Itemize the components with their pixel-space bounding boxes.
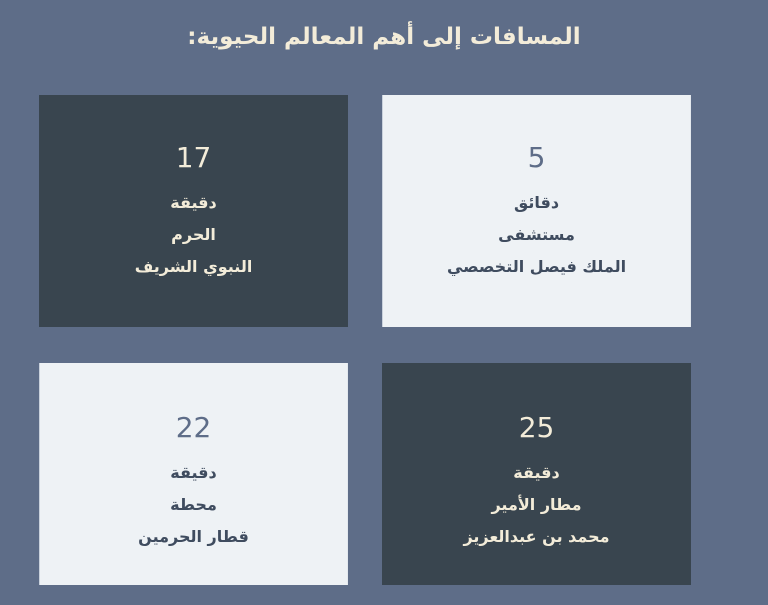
landmark-name-line2: الملك فيصل التخصصي — [447, 251, 626, 283]
distance-unit: دقيقة — [170, 187, 216, 219]
landmark-name-line2: النبوي الشريف — [135, 251, 253, 283]
landmark-name-line1: مستشفى — [498, 219, 575, 251]
landmark-name-line1: محطة — [170, 489, 217, 521]
distance-unit: دقيقة — [170, 457, 216, 489]
page-title: المسافات إلى أهم المعالم الحيوية: — [0, 22, 768, 52]
distance-value: 17 — [176, 141, 212, 175]
landmark-name-line2: محمد بن عبدالعزيز — [463, 521, 609, 553]
distance-card-train-station[interactable]: 22 دقيقة محطة قطار الحرمين — [39, 363, 348, 585]
landmark-name-line1: الحرم — [171, 219, 216, 251]
distance-value: 25 — [519, 411, 555, 445]
distances-panel: المسافات إلى أهم المعالم الحيوية: 5 دقائ… — [0, 0, 768, 605]
distance-value: 22 — [176, 411, 212, 445]
distance-card-mosque[interactable]: 17 دقيقة الحرم النبوي الشريف — [39, 95, 348, 327]
distance-unit: دقائق — [514, 187, 559, 219]
landmark-name-line1: مطار الأمير — [491, 489, 581, 521]
distance-card-hospital[interactable]: 5 دقائق مستشفى الملك فيصل التخصصي — [382, 95, 691, 327]
distance-cards-grid: 5 دقائق مستشفى الملك فيصل التخصصي 17 دقي… — [39, 95, 691, 585]
distance-value: 5 — [528, 141, 546, 175]
distance-unit: دقيقة — [513, 457, 559, 489]
distance-card-airport[interactable]: 25 دقيقة مطار الأمير محمد بن عبدالعزيز — [382, 363, 691, 585]
landmark-name-line2: قطار الحرمين — [138, 521, 249, 553]
